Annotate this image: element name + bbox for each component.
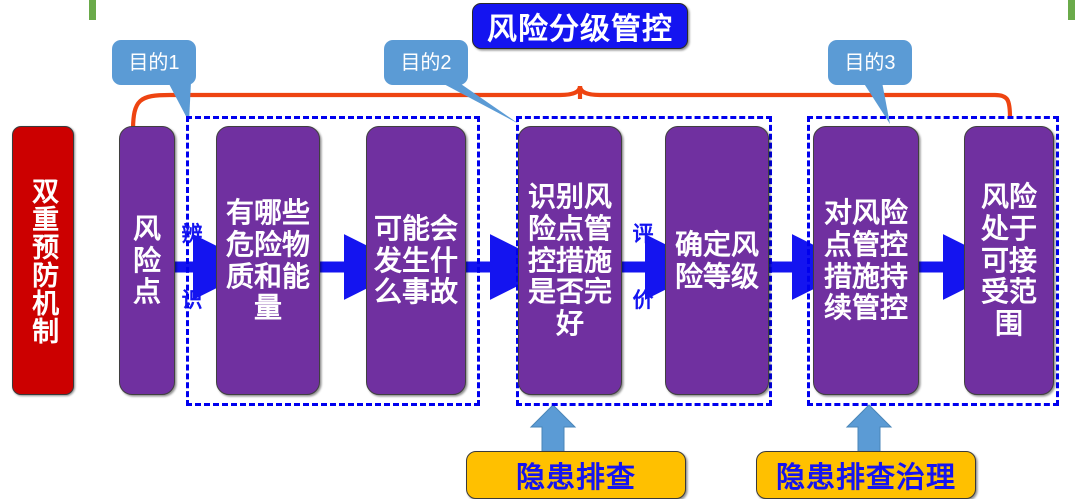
left-banner-label: 双重预防机制 — [28, 177, 58, 345]
green-dashed-separator-right — [1068, 0, 1075, 499]
bottom-box-hazard-investigation[interactable]: 隐患排查 — [466, 451, 686, 499]
process-box-identify-control-measures-label: 识别风险点管控措施是否完好 — [519, 181, 621, 341]
callout-purpose-3[interactable]: 目的3 — [828, 40, 912, 85]
process-box-risk-point[interactable]: 风险点 — [119, 126, 175, 395]
callout-purpose-2-label: 目的2 — [400, 53, 451, 73]
process-box-acceptable-range[interactable]: 风险处于可接受范围 — [964, 126, 1054, 395]
process-box-possible-accidents[interactable]: 可能会发生什么事故 — [366, 126, 466, 395]
process-box-hazardous-substances-label: 有哪些危险物质和能量 — [217, 197, 319, 325]
bottom-box-hazard-investigation-label: 隐患排查 — [516, 454, 636, 496]
arrow-label-evaluate-top: 评 — [627, 218, 659, 248]
bottom-box-hazard-governance[interactable]: 隐患排查治理 — [756, 451, 976, 499]
process-box-possible-accidents-label: 可能会发生什么事故 — [367, 213, 465, 309]
process-box-continuous-control[interactable]: 对风险点管控措施持续管控 — [813, 126, 919, 395]
process-box-hazardous-substances[interactable]: 有哪些危险物质和能量 — [216, 126, 320, 395]
callout-purpose-1-label: 目的1 — [128, 53, 179, 73]
diagram-title: 风险分级管控 — [472, 3, 688, 49]
bottom-box-hazard-governance-label: 隐患排查治理 — [776, 454, 956, 496]
up-arrows — [531, 405, 891, 452]
up-arrow-right — [847, 405, 891, 452]
process-box-identify-control-measures[interactable]: 识别风险点管控措施是否完好 — [518, 126, 622, 395]
arrow-label-evaluate-bottom: 价 — [627, 284, 659, 314]
process-box-determine-risk-level[interactable]: 确定风险等级 — [665, 126, 769, 395]
arrow-label-identify-bottom: 识 — [176, 284, 208, 314]
green-dashed-separator-left — [89, 0, 96, 499]
process-box-acceptable-range-label: 风险处于可接受范围 — [965, 181, 1053, 341]
diagram-canvas: 风险分级管控 目的1 目的2 目的3 双重预防机制 风险点 有哪些危险物质和能量… — [0, 0, 1080, 499]
callout-purpose-2[interactable]: 目的2 — [384, 40, 468, 85]
up-arrow-left — [531, 405, 575, 452]
arrow-label-identify-top: 辨 — [176, 218, 208, 248]
process-box-determine-risk-level-label: 确定风险等级 — [666, 229, 768, 293]
process-box-continuous-control-label: 对风险点管控措施持续管控 — [814, 197, 918, 325]
callout-purpose-1[interactable]: 目的1 — [112, 40, 196, 85]
left-banner-dual-prevention: 双重预防机制 — [12, 126, 74, 395]
process-box-risk-point-label: 风险点 — [120, 213, 174, 309]
callout-purpose-3-label: 目的3 — [844, 53, 895, 73]
diagram-title-label: 风险分级管控 — [487, 4, 673, 48]
